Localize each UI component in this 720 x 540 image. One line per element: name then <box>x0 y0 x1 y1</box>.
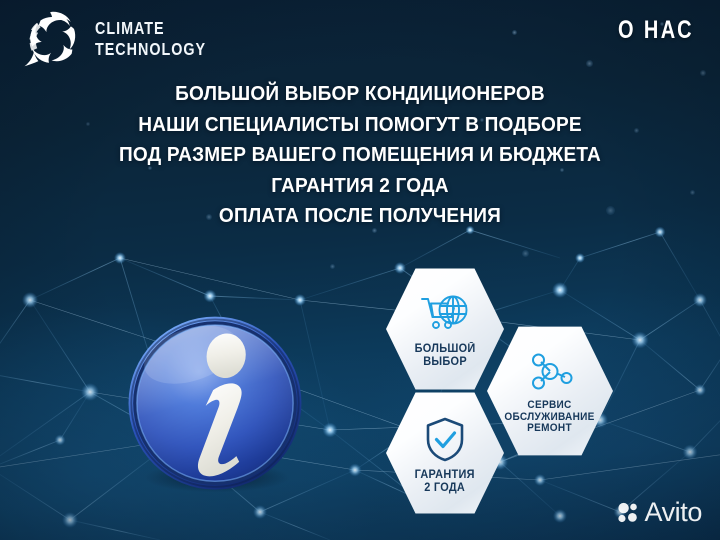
cart-globe-icon <box>418 294 472 336</box>
headline-line-2: НАШИ СПЕЦИАЛИСТЫ ПОМОГУТ В ПОДБОРЕ <box>25 115 695 136</box>
badge-choice-label: БОЛЬШОЙ ВЫБОР <box>415 343 476 369</box>
badge-warranty-label-line2: 2 ГОДА <box>425 482 466 494</box>
headline-line-1: БОЛЬШОЙ ВЫБОР КОНДИЦИОНЕРОВ <box>25 84 695 105</box>
brand-logo[interactable]: CLIMATE TECHNOLOGY <box>22 8 230 70</box>
badge-choice-label-line1: БОЛЬШОЙ <box>415 343 476 355</box>
badge-warranty-label: ГАРАНТИЯ 2 ГОДА <box>415 469 475 495</box>
headline-line-3: ПОД РАЗМЕР ВАШЕГО ПОМЕЩЕНИЯ И БЮДЖЕТА <box>25 145 695 166</box>
badge-warranty-label-line1: ГАРАНТИЯ <box>415 469 475 481</box>
badge-service-label-line2: ОБСЛУЖИВАНИЕ <box>505 411 595 423</box>
info-sphere-icon <box>122 312 308 498</box>
avito-watermark: Avito <box>617 499 702 526</box>
network-nodes-icon <box>527 351 573 393</box>
avito-wordmark: Avito <box>644 499 702 526</box>
fan-swirl-logo-icon <box>22 8 84 70</box>
badge-service-label: СЕРВИС ОБСЛУЖИВАНИЕ РЕМОНТ <box>505 400 595 436</box>
badge-choice-label-line2: ВЫБОР <box>423 356 467 368</box>
brand-wordmark: CLIMATE TECHNOLOGY <box>95 20 230 58</box>
badge-service-label-line1: СЕРВИС <box>528 399 572 411</box>
section-title: О НАС <box>618 16 694 45</box>
brand-line-2: TECHNOLOGY <box>95 41 206 59</box>
network-mesh-background <box>0 0 720 540</box>
badge-service-label-line3: РЕМОНТ <box>528 422 573 434</box>
shield-check-icon <box>423 416 467 462</box>
poster-canvas: CLIMATE TECHNOLOGY О НАС БОЛЬШОЙ ВЫБОР К… <box>0 0 720 540</box>
avito-dots-icon <box>617 502 639 524</box>
brand-line-1: CLIMATE <box>95 20 206 38</box>
headline-line-4: ГАРАНТИЯ 2 ГОДА <box>25 176 695 197</box>
headline-block: БОЛЬШОЙ ВЫБОР КОНДИЦИОНЕРОВ НАШИ СПЕЦИАЛ… <box>0 84 720 237</box>
headline-line-5: ОПЛАТА ПОСЛЕ ПОЛУЧЕНИЯ <box>25 206 695 227</box>
header-bar: CLIMATE TECHNOLOGY О НАС <box>0 0 720 78</box>
